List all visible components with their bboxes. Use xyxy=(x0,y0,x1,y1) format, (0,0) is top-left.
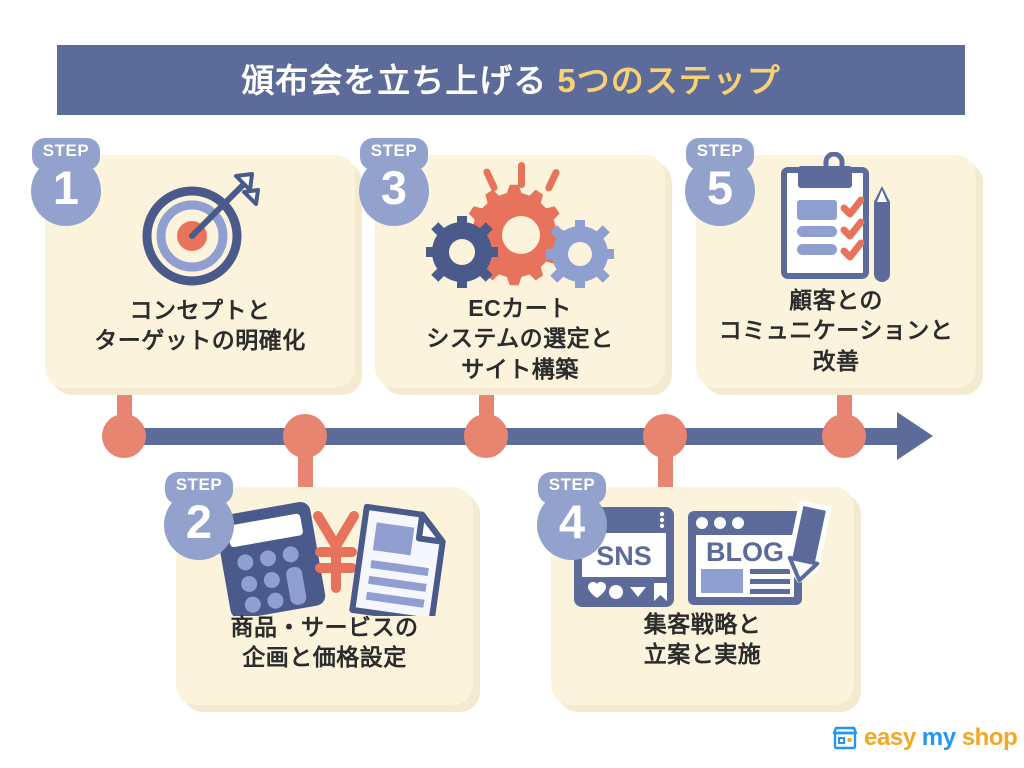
target-arrow-icon xyxy=(140,170,260,288)
step-badge-word-3: STEP xyxy=(352,142,436,159)
step-badge-number-1: 1 xyxy=(24,160,108,216)
title-banner: 頒布会を立ち上げる 5つのステップ xyxy=(57,45,965,115)
timeline-arrow-head xyxy=(897,412,933,460)
svg-text:BLOG: BLOG xyxy=(706,537,784,567)
step-2-caption: 商品・サービスの 企画と価格設定 xyxy=(176,612,473,673)
gear-right-light xyxy=(546,220,614,288)
step-badge-number-3: 3 xyxy=(352,160,436,216)
step-badge-2[interactable]: STEP 2 xyxy=(157,470,241,562)
timeline-node-5 xyxy=(822,414,866,458)
timeline-node-2 xyxy=(283,414,327,458)
gear-sparkle-rays xyxy=(482,162,560,193)
step-badge-word-5: STEP xyxy=(678,142,762,159)
brand-logo[interactable]: easy my shop xyxy=(832,726,1017,750)
logo-text-shop: shop xyxy=(962,726,1018,750)
step-3-caption: ECカート システムの選定と サイト構築 xyxy=(375,293,665,384)
gears-icon xyxy=(425,162,615,290)
timeline-node-4 xyxy=(643,414,687,458)
page-title: 頒布会を立ち上げる 5つのステップ xyxy=(241,64,781,97)
timeline-node-3 xyxy=(464,414,508,458)
page-title-accent: 5つのステップ xyxy=(557,62,780,99)
infographic-canvas: 頒布会を立ち上げる 5つのステップ コンセプトと ターゲットの明確化 xyxy=(0,0,1024,768)
logo-text-my: my xyxy=(922,726,956,750)
step-badge-word-1: STEP xyxy=(24,142,108,159)
timeline-bar xyxy=(122,428,912,445)
step-5-caption: 顧客との コミュニケーションと 改善 xyxy=(696,285,976,376)
yen-symbol xyxy=(318,516,354,588)
blog-panel-icon: BLOG xyxy=(688,511,802,605)
gear-left-dark xyxy=(426,216,498,288)
step-1-caption: コンセプトと ターゲットの明確化 xyxy=(45,295,355,356)
step-badge-4[interactable]: STEP 4 xyxy=(530,470,614,562)
timeline-node-1 xyxy=(102,414,146,458)
step-badge-3[interactable]: STEP 3 xyxy=(352,136,436,228)
step-badge-5[interactable]: STEP 5 xyxy=(678,136,762,228)
page-title-main: 頒布会を立ち上げる xyxy=(241,62,557,99)
step-badge-1[interactable]: STEP 1 xyxy=(24,136,108,228)
step-badge-number-4: 4 xyxy=(530,494,614,550)
clipboard-checklist-pen-icon xyxy=(766,152,906,290)
storefront-icon xyxy=(832,726,858,750)
document-icon xyxy=(352,507,446,616)
step-4-caption: 集客戦略と 立案と実施 xyxy=(551,609,854,670)
step-badge-number-2: 2 xyxy=(157,494,241,550)
step-badge-word-4: STEP xyxy=(530,476,614,493)
step-badge-word-2: STEP xyxy=(157,476,241,493)
logo-text-easy: easy xyxy=(864,726,916,750)
step-badge-number-5: 5 xyxy=(678,160,762,216)
